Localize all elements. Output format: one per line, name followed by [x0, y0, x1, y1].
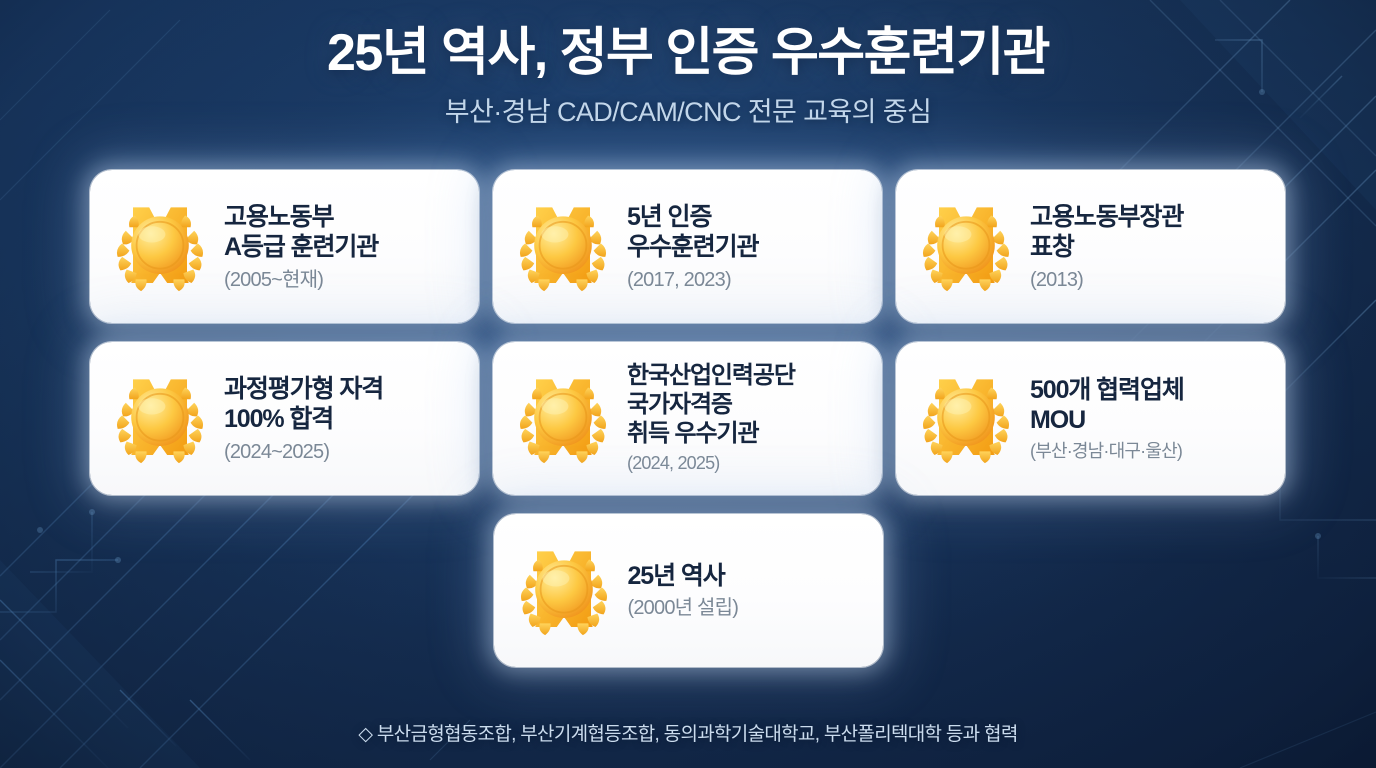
- award-card-title-line: MOU: [1030, 405, 1271, 436]
- gold-medal-laurel-icon: [106, 193, 214, 301]
- award-card-title-line: 표창: [1030, 232, 1271, 263]
- card-row-3: 25년 역사 (2000년 설립): [90, 514, 1286, 667]
- card-row-1: 고용노동부 A등급 훈련기관 (2005~현재): [90, 170, 1286, 323]
- award-card[interactable]: 25년 역사 (2000년 설립): [494, 514, 883, 667]
- award-card-title-line: 취득 우수기관: [627, 420, 868, 449]
- gold-medal-laurel-icon: [510, 537, 618, 645]
- gold-medal-laurel-icon: [106, 365, 214, 473]
- award-card-grid: 고용노동부 A등급 훈련기관 (2005~현재): [90, 170, 1286, 686]
- award-card-title-line: 고용노동부: [224, 202, 465, 233]
- award-card-title-line: 우수훈련기관: [627, 232, 868, 263]
- award-card-title-line: A등급 훈련기관: [224, 232, 465, 263]
- gold-medal-laurel-icon: [509, 193, 617, 301]
- award-card-title-line: 500개 협력업체: [1030, 375, 1271, 406]
- gold-medal-laurel-icon: [509, 365, 617, 473]
- award-card[interactable]: 고용노동부장관 표창 (2013): [896, 170, 1285, 323]
- award-card[interactable]: 한국산업인력공단 국가자격증 취득 우수기관 (2024, 2025): [493, 342, 882, 495]
- award-card-title: 고용노동부장관 표창: [1030, 202, 1271, 263]
- award-card-title: 고용노동부 A등급 훈련기관: [224, 202, 465, 263]
- award-card-title: 25년 역사: [628, 561, 869, 592]
- award-card-note: (2013): [1030, 268, 1271, 292]
- gold-medal-laurel-icon: [912, 365, 1020, 473]
- award-card-title: 한국산업인력공단 국가자격증 취득 우수기관: [627, 362, 868, 448]
- award-card[interactable]: 5년 인증 우수훈련기관 (2017, 2023): [493, 170, 882, 323]
- award-card-text: 고용노동부장관 표창 (2013): [1030, 202, 1271, 292]
- page-subtitle: 부산·경남 CAD/CAM/CNC 전문 교육의 중심: [0, 90, 1376, 129]
- award-card-text: 500개 협력업체 MOU (부산·경남·대구·울산): [1030, 375, 1271, 463]
- award-card-title-line: 국가자격증: [627, 391, 868, 420]
- award-card-note: (2024, 2025): [627, 453, 868, 475]
- award-card-text: 25년 역사 (2000년 설립): [628, 561, 869, 621]
- award-card-note: (2000년 설립): [628, 596, 869, 620]
- gold-medal-laurel-icon: [912, 193, 1020, 301]
- award-card-note: (부산·경남·대구·울산): [1030, 441, 1271, 463]
- page-title: 25년 역사, 정부 인증 우수훈련기관: [0, 24, 1376, 82]
- award-card-text: 5년 인증 우수훈련기관 (2017, 2023): [627, 202, 868, 292]
- partner-footer-note: ◇ 부산금형협동조합, 부산기계협등조합, 동의과학기술대학교, 부산폴리텍대학…: [0, 719, 1376, 746]
- award-card-note: (2017, 2023): [627, 268, 868, 292]
- award-card-title: 5년 인증 우수훈련기관: [627, 202, 868, 263]
- award-card[interactable]: 과정평가형 자격 100% 합격 (2024~2025): [90, 342, 479, 495]
- award-card[interactable]: 고용노동부 A등급 훈련기관 (2005~현재): [90, 170, 479, 323]
- award-card-title-line: 고용노동부장관: [1030, 202, 1271, 233]
- award-card-text: 고용노동부 A등급 훈련기관 (2005~현재): [224, 202, 465, 292]
- award-card-title: 500개 협력업체 MOU: [1030, 375, 1271, 436]
- award-card-title-line: 과정평가형 자격: [224, 374, 465, 405]
- award-card-title-line: 5년 인증: [627, 202, 868, 233]
- card-row-2: 과정평가형 자격 100% 합격 (2024~2025): [90, 342, 1286, 495]
- award-card-title-line: 100% 합격: [224, 404, 465, 435]
- award-card-text: 한국산업인력공단 국가자격증 취득 우수기관 (2024, 2025): [627, 362, 868, 475]
- award-card[interactable]: 500개 협력업체 MOU (부산·경남·대구·울산): [896, 342, 1285, 495]
- award-card-title: 과정평가형 자격 100% 합격: [224, 374, 465, 435]
- award-card-text: 과정평가형 자격 100% 합격 (2024~2025): [224, 374, 465, 464]
- header: 25년 역사, 정부 인증 우수훈련기관 부산·경남 CAD/CAM/CNC 전…: [0, 0, 1376, 129]
- award-card-note: (2005~현재): [224, 268, 465, 292]
- slide-root: 25년 역사, 정부 인증 우수훈련기관 부산·경남 CAD/CAM/CNC 전…: [0, 0, 1376, 768]
- award-card-title-line: 25년 역사: [628, 561, 869, 592]
- award-card-title-line: 한국산업인력공단: [627, 362, 868, 391]
- award-card-note: (2024~2025): [224, 440, 465, 464]
